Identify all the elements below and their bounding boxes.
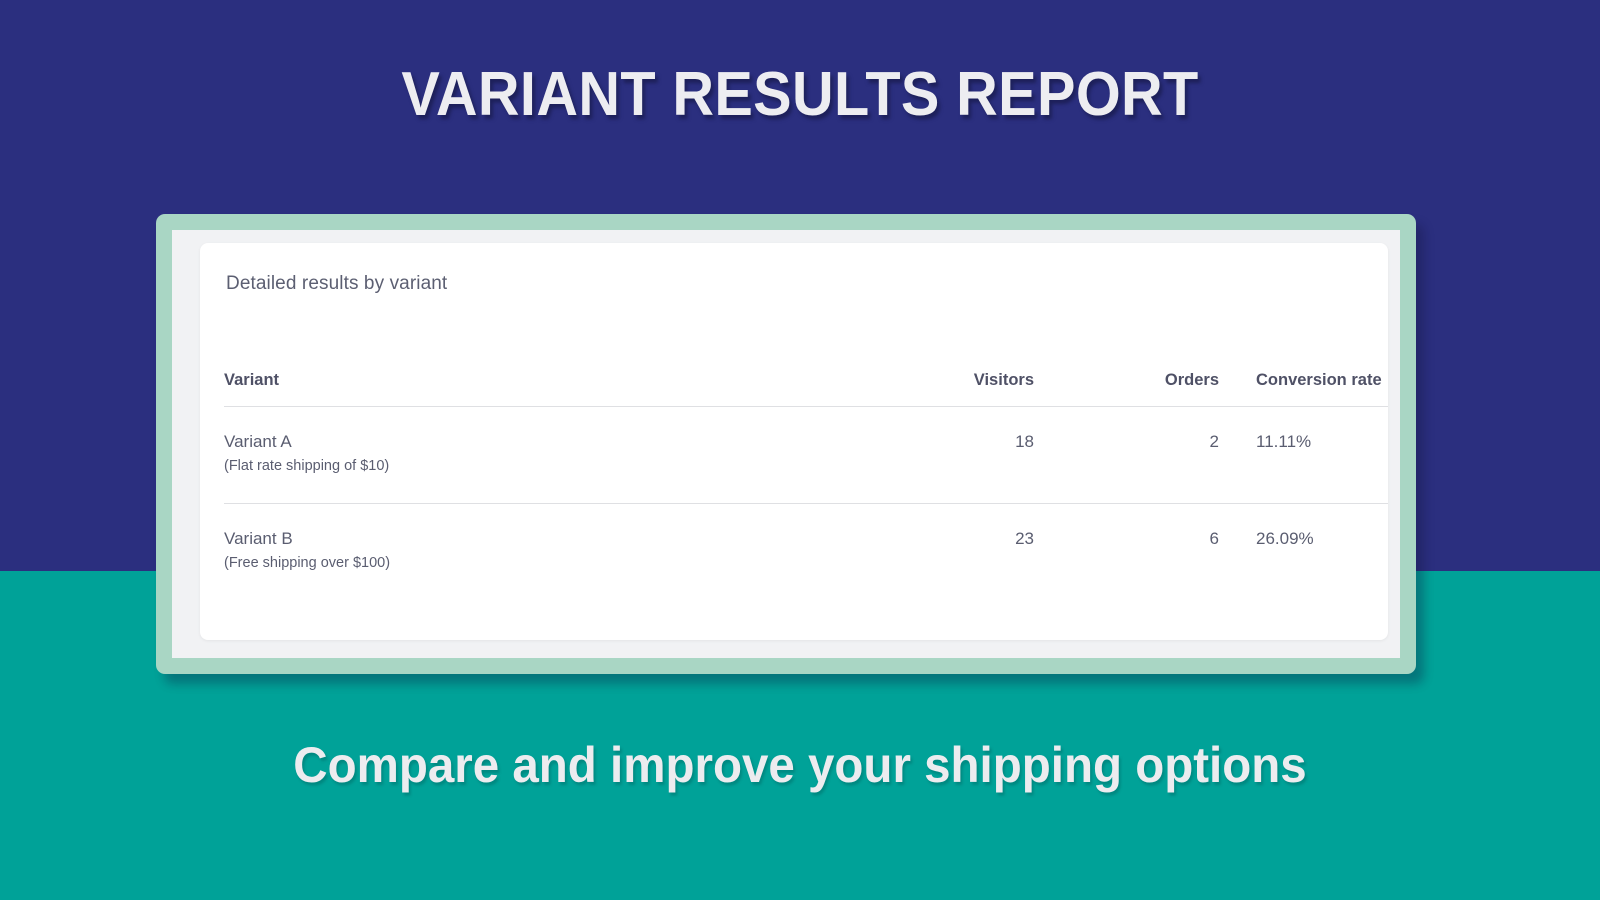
cell-visitors: 18	[749, 407, 1034, 504]
variant-description: (Flat rate shipping of $10)	[224, 457, 749, 477]
column-header-variant: Variant	[224, 371, 749, 407]
column-header-visitors: Visitors	[749, 371, 1034, 407]
column-header-conversion-rate: Conversion rate	[1219, 371, 1388, 407]
report-card: Detailed results by variant Variant Visi…	[200, 243, 1388, 640]
variant-name: Variant B	[224, 528, 749, 549]
cell-orders: 6	[1034, 503, 1219, 599]
cell-variant: Variant B (Free shipping over $100)	[224, 503, 749, 599]
footer-caption: Compare and improve your shipping option…	[40, 736, 1560, 794]
column-header-orders: Orders	[1034, 371, 1219, 407]
variant-description: (Free shipping over $100)	[224, 554, 749, 574]
table-row: Variant A (Flat rate shipping of $10) 18…	[224, 407, 1388, 504]
cell-conversion-rate: 11.11%	[1219, 407, 1388, 504]
table-header-row: Variant Visitors Orders Conversion rate	[224, 371, 1388, 407]
report-card-frame: Detailed results by variant Variant Visi…	[156, 214, 1416, 674]
report-card-mat: Detailed results by variant Variant Visi…	[172, 230, 1400, 658]
cell-visitors: 23	[749, 503, 1034, 599]
variant-name: Variant A	[224, 431, 749, 452]
page-title: VARIANT RESULTS REPORT	[56, 62, 1544, 127]
table-header: Variant Visitors Orders Conversion rate	[224, 371, 1388, 407]
results-table: Variant Visitors Orders Conversion rate …	[224, 371, 1388, 600]
table-body: Variant A (Flat rate shipping of $10) 18…	[224, 407, 1388, 600]
cell-variant: Variant A (Flat rate shipping of $10)	[224, 407, 749, 504]
cell-orders: 2	[1034, 407, 1219, 504]
table-row: Variant B (Free shipping over $100) 23 6…	[224, 503, 1388, 599]
cell-conversion-rate: 26.09%	[1219, 503, 1388, 599]
card-title: Detailed results by variant	[226, 273, 1362, 295]
